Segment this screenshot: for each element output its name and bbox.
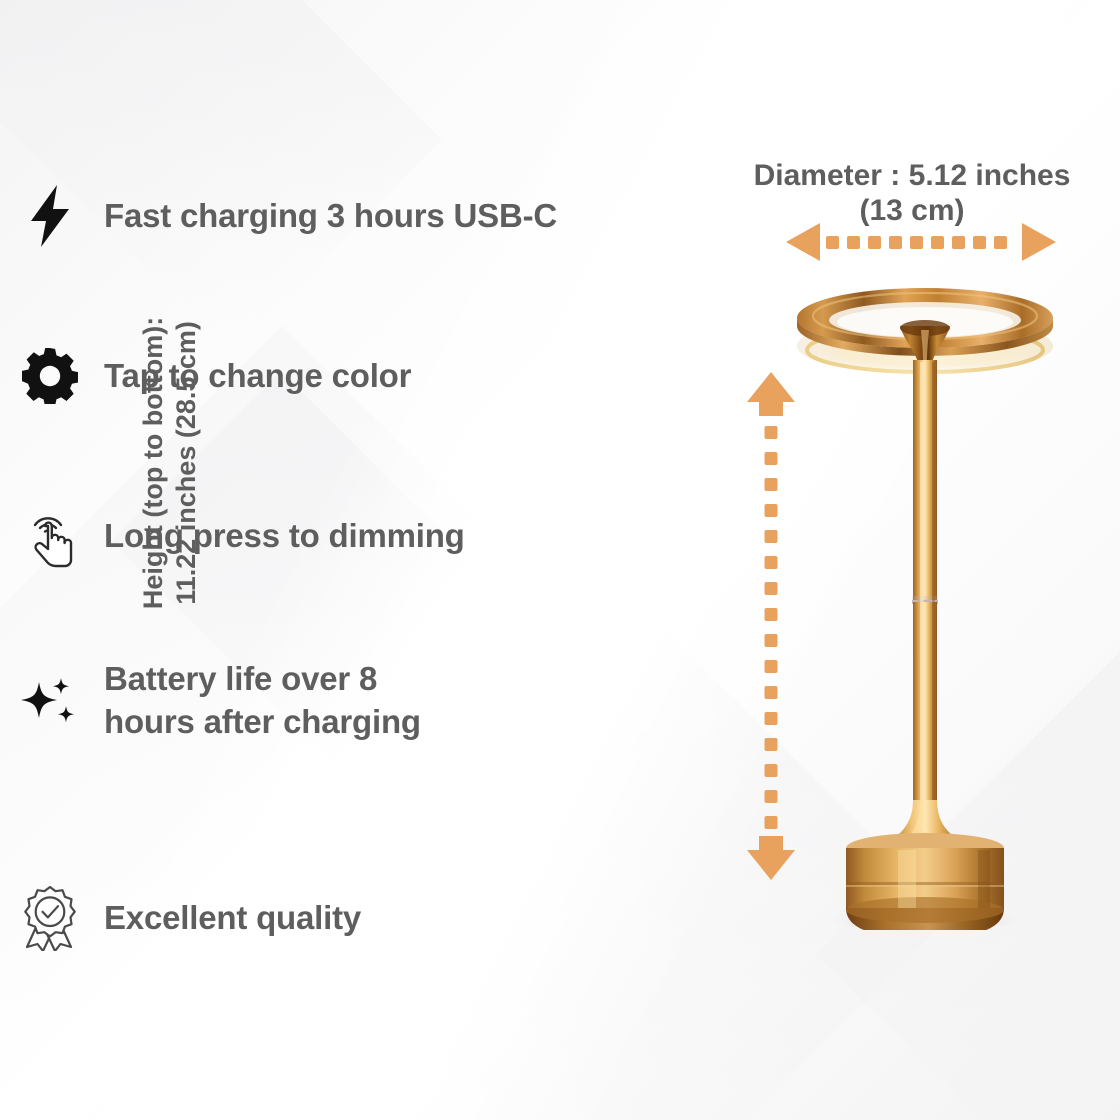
height-label: Height (top to bottom): 11.22 inches (28… [137, 253, 203, 673]
height-annotation: Height (top to bottom): 11.22 inches (28… [137, 253, 203, 673]
feature-label: Excellent quality [104, 897, 361, 940]
quality-badge-icon [18, 886, 82, 950]
lightning-bolt-icon [18, 184, 82, 248]
feature-item-tap-color: Tap to change color [18, 344, 411, 408]
gear-icon [18, 344, 82, 408]
feature-label: Fast charging 3 hours USB-C [104, 195, 557, 238]
product-image-table-lamp [780, 270, 1070, 930]
feature-item-fast-charging: Fast charging 3 hours USB-C [18, 184, 557, 248]
diameter-arrow [786, 218, 1056, 266]
sparkle-icon [18, 669, 82, 733]
tap-gesture-icon [18, 504, 82, 568]
feature-item-battery-life: Battery life over 8 hours after charging [18, 658, 421, 744]
feature-item-excellent-quality: Excellent quality [18, 886, 361, 950]
product-infographic: Fast charging 3 hours USB-C Tap to chang… [0, 0, 1120, 1120]
feature-item-long-press-dimming: Long press to dimming [18, 504, 465, 568]
